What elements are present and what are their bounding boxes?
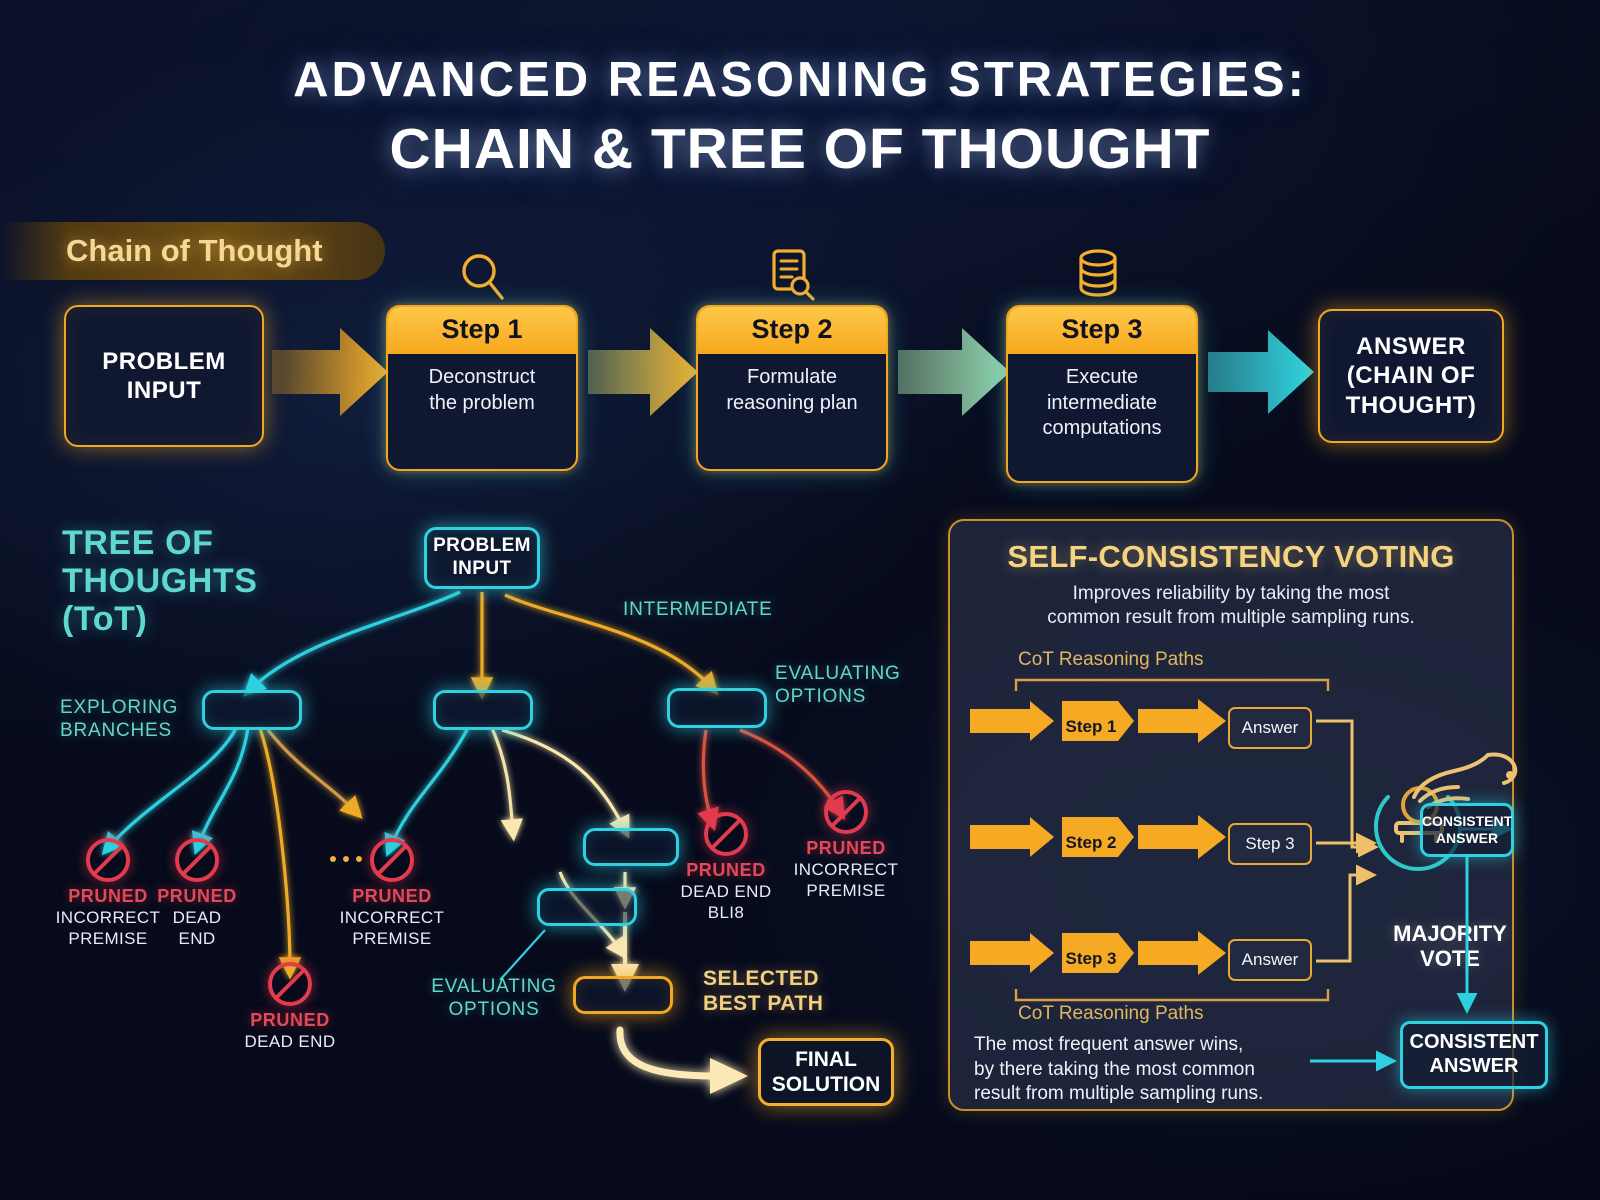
sc-subtitle-line1: Improves reliability by taking the most: [950, 582, 1512, 606]
path-2-output-box[interactable]: Step 3: [1228, 823, 1312, 865]
label-evaluating-options-bottom: EVALUATING OPTIONS: [424, 975, 564, 1021]
magnifier-icon: [455, 250, 515, 304]
pruned-2-word: PRUNED: [152, 886, 242, 907]
path-1-step-label: Step 1: [1062, 709, 1120, 745]
database-stack-icon: [1072, 248, 1128, 302]
consistent-small-line2: ANSWER: [1422, 830, 1512, 847]
cot-step-3-body-line1: Execute: [1016, 365, 1188, 391]
tot-root-line2: INPUT: [433, 558, 531, 581]
pruned-node-6: PRUNED INCORRECT PREMISE: [786, 790, 906, 901]
label-evaluating-options-right: EVALUATING OPTIONS: [775, 662, 901, 708]
pruned-1-reason-line1: INCORRECT: [48, 908, 168, 928]
label-exploring-branches: EXPLORING BRANCHES: [60, 696, 210, 742]
consistent-small-line1: CONSISTENT: [1422, 813, 1512, 830]
tot-root-line1: PROBLEM: [433, 535, 531, 558]
self-consistency-panel: SELF-CONSISTENCY VOTING Improves reliabi…: [948, 519, 1514, 1111]
path-2-step-label: Step 2: [1062, 825, 1120, 861]
exploring-line2: BRANCHES: [60, 719, 210, 742]
tot-branch-node-left[interactable]: [202, 690, 302, 730]
exploring-line1: EXPLORING: [60, 696, 210, 719]
pruned-5-reason-line2: BLI8: [665, 903, 787, 923]
path-3-step-label: Step 3: [1062, 941, 1120, 977]
page-title: ADVANCED REASONING STRATEGIES: CHAIN & T…: [0, 52, 1600, 182]
prohibition-icon: [86, 838, 130, 882]
cot-answer-line1: ANSWER: [1346, 332, 1477, 361]
eval-bottom-line1: EVALUATING: [424, 975, 564, 998]
document-search-icon: [766, 248, 822, 304]
cot-reasoning-paths-caption-top: CoT Reasoning Paths: [1018, 649, 1204, 671]
title-line-2: CHAIN & TREE OF THOUGHT: [0, 116, 1600, 182]
cot-step-1-body: Deconstruct the problem: [388, 354, 576, 426]
pruned-3-reason-line1: DEAD END: [232, 1032, 348, 1052]
tot-final-line1: FINAL: [772, 1047, 881, 1072]
bracket-bottom-icon: [1014, 987, 1330, 1003]
pruned-node-1: PRUNED INCORRECT PREMISE: [48, 838, 168, 949]
consistent-answer-small-text: CONSISTENT ANSWER: [1422, 813, 1512, 846]
prohibition-icon: [370, 838, 414, 882]
cot-step-1-body-line2: the problem: [396, 391, 568, 417]
tot-final-line2: SOLUTION: [772, 1072, 881, 1097]
pruned-4-reason-line2: PREMISE: [332, 929, 452, 949]
selected-best-line2: BEST PATH: [703, 991, 823, 1016]
cot-step-3-body-line2: intermediate: [1016, 391, 1188, 417]
tot-selected-node[interactable]: [573, 976, 673, 1014]
pruned-5-reason-line1: DEAD END: [665, 882, 787, 902]
bracket-top-icon: [1014, 677, 1330, 693]
selected-best-line1: SELECTED: [703, 966, 823, 991]
cot-step-2-body-line2: reasoning plan: [706, 391, 878, 417]
eval-bottom-line2: OPTIONS: [424, 998, 564, 1021]
pruned-2-reason-line2: END: [152, 929, 242, 949]
cot-step-2-body: Formulate reasoning plan: [698, 354, 886, 426]
pruned-node-5: PRUNED DEAD END BLI8: [665, 812, 787, 923]
pruned-node-3: PRUNED DEAD END: [232, 962, 348, 1052]
cot-step-1-head: Step 1: [388, 307, 576, 354]
pruned-1-word: PRUNED: [48, 886, 168, 907]
answer-down-arrow: [1450, 857, 1490, 1021]
cot-step-1-body-line1: Deconstruct: [396, 365, 568, 391]
cot-problem-input-line1: PROBLEM: [102, 347, 226, 376]
prohibition-icon: [175, 838, 219, 882]
eval-right-line2: OPTIONS: [775, 685, 901, 708]
tot-root-node[interactable]: PROBLEM INPUT: [424, 527, 540, 589]
tot-final-solution-text: FINAL SOLUTION: [772, 1047, 881, 1097]
tot-branch-node-right[interactable]: [667, 688, 767, 728]
cot-problem-input-text: PROBLEM INPUT: [102, 347, 226, 406]
consistent-big-line2: ANSWER: [1410, 1055, 1539, 1079]
cot-step-3-body-line3: computations: [1016, 416, 1188, 442]
consistent-answer-small-box[interactable]: CONSISTENT ANSWER: [1420, 803, 1514, 857]
pruned-6-reason-line1: INCORRECT: [786, 860, 906, 880]
evaluating-options-leader-line: [500, 930, 545, 980]
sc-subtitle-line2: common result from multiple sampling run…: [950, 606, 1512, 630]
cot-step-2-head: Step 2: [698, 307, 886, 354]
cot-arrow-1: [272, 328, 388, 416]
cot-answer-text: ANSWER (CHAIN OF THOUGHT): [1346, 332, 1477, 420]
pruned-node-2: PRUNED DEAD END: [152, 838, 242, 949]
tot-root-text: PROBLEM INPUT: [433, 535, 531, 581]
cot-arrow-4: [1208, 330, 1314, 414]
cot-step-2-body-line1: Formulate: [706, 365, 878, 391]
cot-problem-input-line2: INPUT: [102, 376, 226, 405]
sc-footnote-line3: result from multiple sampling runs.: [974, 1082, 1304, 1107]
pruned-node-4: PRUNED INCORRECT PREMISE: [332, 838, 452, 949]
cot-arrow-3: [898, 328, 1010, 416]
pruned-5-word: PRUNED: [665, 860, 787, 881]
label-intermediate: INTERMEDIATE: [623, 598, 773, 621]
pruned-4-reason-line1: INCORRECT: [332, 908, 452, 928]
pruned-6-word: PRUNED: [786, 838, 906, 859]
path-3-output-box[interactable]: Answer: [1228, 939, 1312, 981]
prohibition-icon: [704, 812, 748, 856]
prohibition-icon: [268, 962, 312, 1006]
self-consistency-title: SELF-CONSISTENCY VOTING: [950, 539, 1512, 575]
self-consistency-subtitle: Improves reliability by taking the most …: [950, 582, 1512, 631]
cot-arrow-2: [588, 328, 698, 416]
self-consistency-footnote: The most frequent answer wins, by there …: [974, 1033, 1304, 1107]
cot-step-3-body: Execute intermediate computations: [1008, 354, 1196, 452]
pruned-2-reason-line1: DEAD: [152, 908, 242, 928]
pruned-1-reason-line2: PREMISE: [48, 929, 168, 949]
prohibition-icon: [824, 790, 868, 834]
cot-answer-line3: THOUGHT): [1346, 391, 1477, 420]
tot-final-solution-node[interactable]: FINAL SOLUTION: [758, 1038, 894, 1106]
tot-branch-node-middle[interactable]: [433, 690, 533, 730]
cot-problem-input-node[interactable]: PROBLEM INPUT: [64, 305, 264, 447]
label-selected-best-path: SELECTED BEST PATH: [703, 966, 823, 1016]
cot-answer-line2: (CHAIN OF: [1346, 361, 1477, 390]
pruned-4-word: PRUNED: [332, 886, 452, 907]
cot-step-3-node[interactable]: Step 3 Execute intermediate computations: [1006, 305, 1198, 483]
footnote-to-answer-arrow: [1310, 1049, 1410, 1073]
eval-right-line1: EVALUATING: [775, 662, 901, 685]
sc-footnote-line2: by there taking the most common: [974, 1058, 1304, 1083]
consistent-answer-big-box[interactable]: CONSISTENT ANSWER: [1400, 1021, 1548, 1089]
pruned-6-reason-line2: PREMISE: [786, 881, 906, 901]
chain-of-thought-section-label: Chain of Thought: [0, 222, 385, 280]
sc-footnote-line1: The most frequent answer wins,: [974, 1033, 1304, 1058]
path-1-output-box[interactable]: Answer: [1228, 707, 1312, 749]
title-line-1: ADVANCED REASONING STRATEGIES:: [0, 52, 1600, 108]
cot-reasoning-paths-caption-bottom: CoT Reasoning Paths: [1018, 1003, 1204, 1025]
cot-step-3-head: Step 3: [1008, 307, 1196, 354]
pruned-3-word: PRUNED: [232, 1010, 348, 1031]
tot-deep-node-2[interactable]: [537, 888, 637, 926]
infographic-canvas: ADVANCED REASONING STRATEGIES: CHAIN & T…: [0, 0, 1600, 1200]
cot-answer-node[interactable]: ANSWER (CHAIN OF THOUGHT): [1318, 309, 1504, 443]
cot-step-1-node[interactable]: Step 1 Deconstruct the problem: [386, 305, 578, 471]
cot-step-2-node[interactable]: Step 2 Formulate reasoning plan: [696, 305, 888, 471]
chain-of-thought-label-text: Chain of Thought: [66, 233, 323, 269]
consistent-big-line1: CONSISTENT: [1410, 1031, 1539, 1055]
consistent-answer-big-text: CONSISTENT ANSWER: [1410, 1031, 1539, 1078]
